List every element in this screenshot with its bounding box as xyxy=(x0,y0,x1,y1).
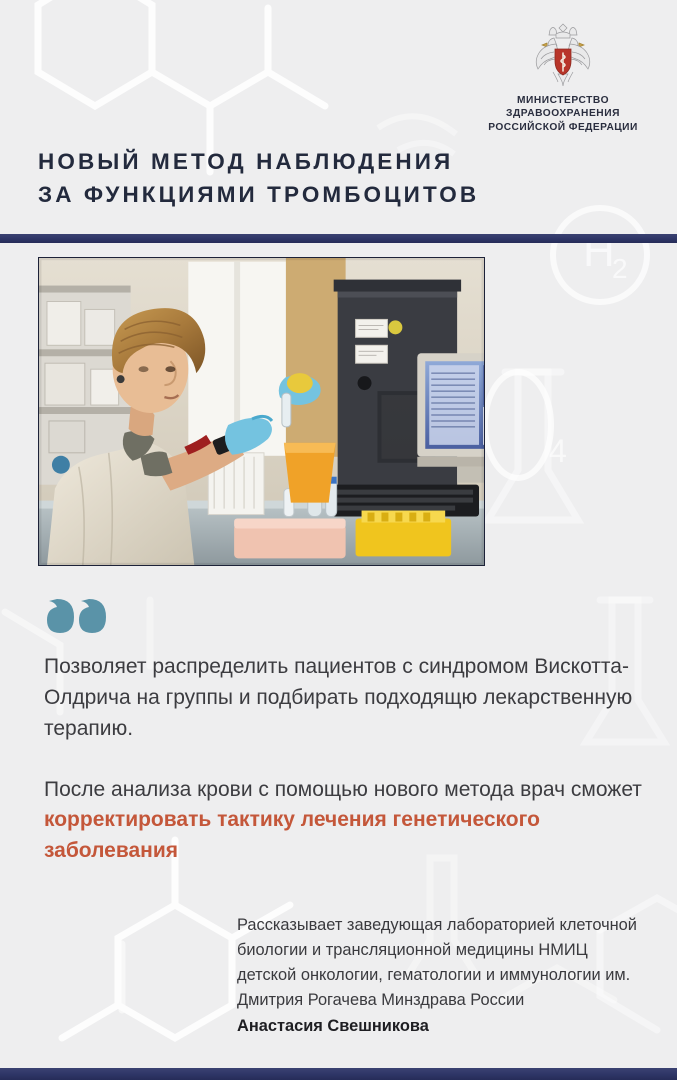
computer-monitor xyxy=(417,353,484,482)
divider-rule-top xyxy=(0,234,677,243)
quote-highlight: корректировать тактику лечения генетичес… xyxy=(44,808,540,862)
divider-rule-bottom xyxy=(0,1068,677,1080)
pipette-tip-rack xyxy=(356,511,452,557)
emblem-line-3: РОССИЙСКОЙ ФЕДЕРАЦИИ xyxy=(463,121,663,134)
quote-paragraph-2-prefix: После анализа крови с помощью нового мет… xyxy=(44,778,642,801)
double-headed-eagle-icon xyxy=(532,22,594,88)
svg-text:4: 4 xyxy=(549,433,567,469)
quote-paragraph-2: После анализа крови с помощью нового мет… xyxy=(44,775,644,868)
attribution-block: Рассказывает заведующая лабораторией кле… xyxy=(237,888,647,1065)
svg-text:2: 2 xyxy=(612,253,628,284)
quotation-mark-icon xyxy=(44,595,106,643)
laboratory-photo xyxy=(38,257,485,566)
quote-paragraph-1: Позволяет распределить пациентов с синдр… xyxy=(44,652,644,745)
emblem-line-1: МИНИСТЕРСТВО xyxy=(463,94,663,107)
attribution-name: Анастасия Свешникова xyxy=(237,1014,647,1039)
o4-watermark: 4 xyxy=(485,372,567,478)
page-title: НОВЫЙ МЕТОД НАБЛЮДЕНИЯ ЗА ФУНКЦИЯМИ ТРОМ… xyxy=(38,146,479,211)
attribution-text: Рассказывает заведующая лабораторией кле… xyxy=(237,916,637,1009)
emblem-line-2: ЗДРАВООХРАНЕНИЯ xyxy=(463,107,663,120)
poster-root: H 2 4 xyxy=(0,0,677,1080)
quote-body: Позволяет распределить пациентов с синдр… xyxy=(44,652,644,867)
laboratory-photo-illustration xyxy=(39,258,484,565)
ministry-emblem-text: МИНИСТЕРСТВО ЗДРАВООХРАНЕНИЯ РОССИЙСКОЙ … xyxy=(463,94,663,134)
h2-watermark: H 2 xyxy=(553,208,647,302)
ministry-emblem-block: МИНИСТЕРСТВО ЗДРАВООХРАНЕНИЯ РОССИЙСКОЙ … xyxy=(463,22,663,134)
